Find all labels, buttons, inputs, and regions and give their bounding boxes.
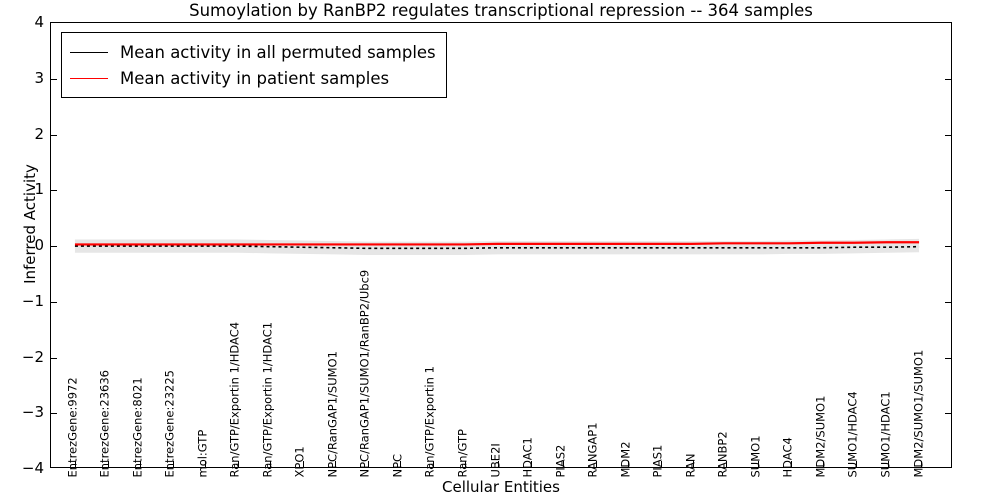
y-axis-tick-mark <box>945 246 951 247</box>
y-axis-tick-label: −2 <box>0 348 44 366</box>
y-axis-tick-mark <box>945 413 951 414</box>
x-axis-tick-label: PIAS2 <box>555 445 567 478</box>
legend-label-permuted: Mean activity in all permuted samples <box>120 43 436 62</box>
chart-title: Sumoylation by RanBP2 regulates transcri… <box>50 0 952 21</box>
chart-legend[interactable]: Mean activity in all permuted samples Me… <box>61 32 447 98</box>
y-axis-tick-label: −3 <box>0 403 44 421</box>
x-axis-tick-label: PIAS1 <box>653 445 665 478</box>
y-axis-tick-label: 2 <box>0 125 44 143</box>
y-axis-tick-mark <box>945 358 951 359</box>
y-axis-tick-mark <box>51 302 57 303</box>
x-axis-tick-label: Ran/GTP <box>457 429 469 477</box>
x-axis-tick-label: HDAC1 <box>523 437 535 477</box>
x-axis-tick-label: Ran/GTP/Exportin 1/HDAC4 <box>230 322 242 478</box>
x-axis-tick-label: RANGAP1 <box>588 422 600 477</box>
y-axis-tick-mark <box>51 358 57 359</box>
y-axis-tick-label: 3 <box>0 69 44 87</box>
y-axis-tick-mark <box>945 79 951 80</box>
y-axis-tick-label: 0 <box>0 236 44 254</box>
x-axis-tick-label: RAN <box>685 454 697 478</box>
legend-swatch-permuted <box>70 52 108 53</box>
y-axis-tick-mark <box>945 190 951 191</box>
legend-item: Mean activity in all permuted samples <box>70 39 436 65</box>
x-axis-tick-label: SUMO1 <box>750 435 762 477</box>
x-axis-tick-label: NPC/RanGAP1/SUMO1/RanBP2/Ubc9 <box>360 270 372 478</box>
x-axis-tick-label: EntrezGene:8021 <box>132 377 144 477</box>
y-axis-tick-label: −1 <box>0 292 44 310</box>
y-axis-tick-mark <box>945 302 951 303</box>
y-axis-tick-label: 1 <box>0 180 44 198</box>
y-axis-tick-mark <box>51 246 57 247</box>
x-axis-tick-label: MDM2/SUMO1/SUMO1 <box>913 350 925 478</box>
chart-figure: Sumoylation by RanBP2 regulates transcri… <box>0 0 1000 500</box>
x-axis-tick-label: EntrezGene:9972 <box>67 377 79 477</box>
legend-item: Mean activity in patient samples <box>70 65 436 91</box>
x-axis-tick-label: Ran/GTP/Exportin 1/HDAC1 <box>262 322 274 478</box>
x-axis-tick-label: SUMO1/HDAC4 <box>848 391 860 477</box>
x-axis-tick-label: mol:GTP <box>197 430 209 478</box>
x-axis-tick-label: EntrezGene:23636 <box>100 370 112 477</box>
x-axis-tick-label: EntrezGene:23225 <box>165 370 177 477</box>
x-axis-tick-label: Ran/GTP/Exportin 1 <box>425 366 437 477</box>
x-axis-tick-label: NPC <box>392 454 404 478</box>
x-axis-tick-label: HDAC4 <box>783 437 795 477</box>
y-axis-tick-mark <box>51 190 57 191</box>
y-axis-tick-mark <box>51 135 57 136</box>
y-axis-tick-label: −4 <box>0 459 44 477</box>
y-axis-tick-label: 4 <box>0 13 44 31</box>
y-axis-tick-mark <box>51 79 57 80</box>
x-axis-tick-label: XPO1 <box>295 446 307 477</box>
x-axis-tick-label: MDM2/SUMO1 <box>815 396 827 478</box>
x-axis-tick-label: MDM2 <box>620 441 632 477</box>
x-axis-tick-label: UBE2I <box>490 443 502 477</box>
y-axis-tick-mark <box>51 413 57 414</box>
x-axis-tick-label: NPC/RanGAP1/SUMO1 <box>327 351 339 477</box>
legend-label-patient: Mean activity in patient samples <box>120 69 389 88</box>
confidence-band <box>75 239 919 255</box>
y-axis-tick-mark <box>945 135 951 136</box>
x-axis-label: Cellular Entities <box>50 478 952 496</box>
x-axis-tick-label: SUMO1/HDAC1 <box>880 391 892 477</box>
x-axis-tick-label: RANBP2 <box>718 431 730 477</box>
legend-swatch-patient <box>70 78 108 79</box>
